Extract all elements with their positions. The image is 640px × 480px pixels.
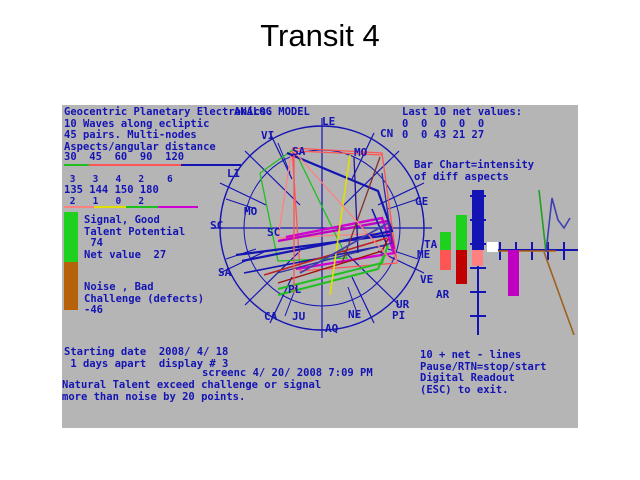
aspect-color-bar-135 (64, 206, 94, 208)
controls-line-2: Pause/RTN=stop/start (420, 361, 546, 373)
signal-line-2: Talent Potential (84, 226, 185, 238)
signal-bar (64, 212, 78, 262)
planet-label-ne-6: NE (348, 308, 361, 321)
bar-aspect-144 (487, 242, 498, 252)
planet-label-ju-5: JU (292, 310, 306, 323)
planet-label-pl-4: PL (288, 283, 302, 296)
planet-label-mo-1: MO (354, 146, 368, 159)
bar-aspect-60 (472, 190, 484, 250)
controls-line-4: (ESC) to exit. (420, 384, 509, 396)
bar-aspect-135 (472, 250, 483, 266)
planet-label-ur-7: UR (396, 298, 410, 311)
footer-note-line-1: Natural Talent exceed challenge or signa… (62, 379, 321, 391)
header-line-3: 45 pairs. Multi-nodes (64, 129, 197, 141)
sign-label-aq-10: AQ (325, 322, 339, 335)
aspect-color-bar-30 (64, 164, 89, 166)
noise-bar (64, 262, 78, 310)
sign-label-sa-8: SA (218, 266, 232, 279)
aspect-color-bar-144 (94, 206, 126, 208)
aspect-color-bar-150 (126, 206, 158, 208)
sign-label-ca-9: CA (264, 310, 278, 323)
start-date: Starting date 2008/ 4/ 18 (64, 346, 228, 358)
bar-aspect-90 (440, 250, 451, 270)
controls-line-3: Digital Readout (420, 372, 515, 384)
bar-aspect-150 (508, 250, 519, 296)
bar-aspect-30 (440, 232, 451, 250)
planet-label-sc-3: SC (267, 226, 280, 239)
sign-label-li-6: LI (227, 167, 240, 180)
screen-capture-stamp: screenc 4/ 20/ 2008 7:09 PM (202, 368, 373, 380)
net-value-line: Net value 27 (84, 249, 166, 261)
aspect-angles-row-2: 135 144 150 180 (64, 185, 159, 197)
sign-label-ge-2: GE (415, 195, 428, 208)
net-history-line (539, 190, 574, 335)
sign-labels: ARTAGECNLEVILISCSACAAQPI (210, 115, 450, 335)
sign-label-sc-7: SC (210, 219, 223, 232)
aspect-angles-row-1: 30 45 60 90 120 (64, 152, 184, 164)
aspect-bar-chart (434, 190, 578, 335)
analog-model-screen: Geocentric Planetary Electronics: 10 Wav… (62, 105, 578, 428)
sign-label-cn-3: CN (380, 127, 393, 140)
noise-value: -46 (84, 304, 103, 316)
controls-block: 10 + net - lines Pause/RTN=stop/start Di… (420, 350, 546, 396)
aspect-color-bar-45-60 (89, 164, 181, 166)
bar-aspect-120 (456, 250, 467, 284)
aspect-lines (236, 148, 397, 295)
signal-block: Signal, Good Talent Potential 74 Net val… (84, 215, 185, 261)
sign-label-le-4: LE (322, 115, 335, 128)
planet-label-ve-9: VE (420, 273, 433, 286)
signal-value: 74 (84, 237, 103, 249)
footer-note: Natural Talent exceed challenge or signa… (62, 380, 321, 403)
page-title: Transit 4 (0, 18, 640, 54)
zodiac-wheel: ARTAGECNLEVILISCSACAAQPI SAMOMOSCPLJUNEU… (182, 113, 462, 343)
planet-label-me-8: ME (417, 248, 430, 261)
footer-note-line-2: more than noise by 20 points. (62, 391, 245, 403)
planet-label-mo-2: MO (244, 205, 258, 218)
bar-aspect-45 (456, 215, 467, 250)
sign-label-vi-5: VI (261, 129, 274, 142)
planet-label-sa-0: SA (292, 145, 306, 158)
noise-line-1: Noise , Bad (84, 281, 154, 293)
signal-line-1: Signal, Good (84, 214, 160, 226)
controls-line-1: 10 + net - lines (420, 349, 521, 361)
